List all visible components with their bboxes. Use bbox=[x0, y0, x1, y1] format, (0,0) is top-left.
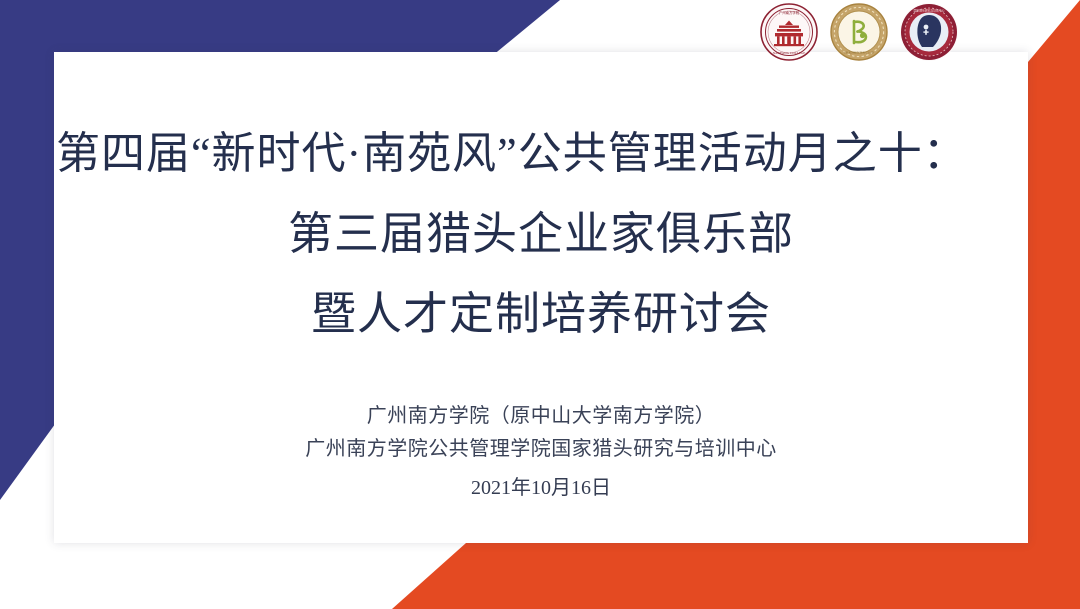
svg-text:NANFANG COLLEGE: NANFANG COLLEGE bbox=[773, 51, 806, 55]
orange-bottom-band bbox=[0, 543, 1080, 609]
svg-text:国家猎头研究与培训中心: 国家猎头研究与培训中心 bbox=[914, 8, 945, 12]
gold-monogram-emblem-icon: HEADHUNTER CLUB bbox=[830, 3, 888, 61]
navy-top-band bbox=[0, 0, 560, 56]
title-line-2: 第三届猎头企业家俱乐部 bbox=[54, 194, 1028, 274]
poster-subtitle: 广州南方学院（原中山大学南方学院） 广州南方学院公共管理学院国家猎头研究与培训中… bbox=[54, 400, 1028, 505]
event-poster-slide: 广州南方学院 NANFANG COLLEGE bbox=[0, 0, 1080, 609]
poster-content: 第四届“新时代·南苑风”公共管理活动月之十： 第三届猎头企业家俱乐部 暨人才定制… bbox=[54, 52, 1028, 543]
navy-left-band bbox=[0, 0, 58, 500]
svg-text:HEADHUNTER CLUB: HEADHUNTER CLUB bbox=[844, 51, 873, 55]
title-line-3: 暨人才定制培养研讨会 bbox=[54, 274, 1028, 354]
svg-text:广州南方学院: 广州南方学院 bbox=[779, 10, 800, 15]
headhunter-silhouette-emblem-icon: 国家猎头研究与培训中心 bbox=[900, 3, 958, 61]
event-date: 2021年10月16日 bbox=[54, 472, 1028, 505]
organizer-line-2: 广州南方学院公共管理学院国家猎头研究与培训中心 bbox=[54, 433, 1028, 466]
organizer-line-1: 广州南方学院（原中山大学南方学院） bbox=[54, 400, 1028, 433]
poster-title: 第四届“新时代·南苑风”公共管理活动月之十： 第三届猎头企业家俱乐部 暨人才定制… bbox=[54, 114, 1028, 354]
title-line-1: 第四届“新时代·南苑风”公共管理活动月之十： bbox=[54, 114, 1028, 194]
guangzhou-nanfang-college-seal-icon: 广州南方学院 NANFANG COLLEGE bbox=[760, 3, 818, 61]
orange-right-band bbox=[1028, 0, 1080, 609]
logo-row: 广州南方学院 NANFANG COLLEGE bbox=[760, 3, 958, 61]
